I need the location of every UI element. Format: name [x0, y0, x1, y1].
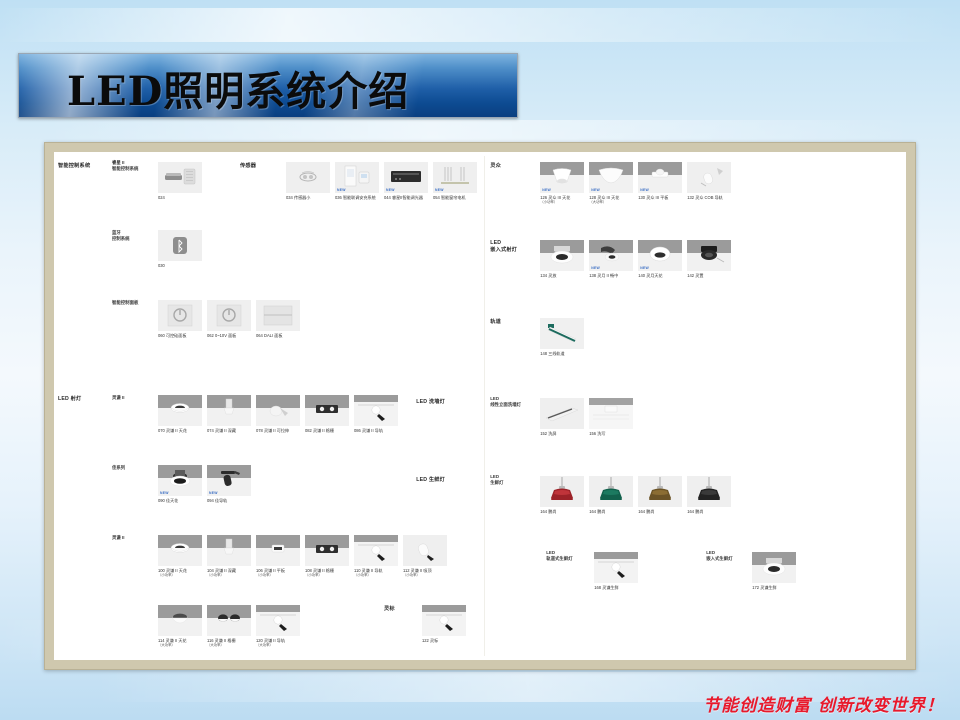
product-name: 灵谦 II 格栅	[313, 428, 334, 433]
catalog-subgroup-title: LED轨道式生鲜灯	[546, 550, 572, 562]
new-badge: NEW	[435, 188, 444, 192]
catalog-group-title: LED 射灯	[58, 395, 81, 402]
product-code: 110	[354, 568, 361, 573]
catalog-item[interactable]: NEW054 智能窗帘电机	[433, 162, 477, 200]
product-code: 070	[158, 428, 165, 433]
catalog-item[interactable]: NEW094 佳导轨	[207, 465, 251, 503]
product-thumbnail	[158, 230, 202, 261]
product-caption: 074 灵谦 II 深藏	[207, 428, 251, 433]
catalog-item[interactable]: 148 三线轨道	[540, 318, 584, 356]
catalog-item[interactable]: 106 灵谦 II 平板（小功率）	[256, 535, 300, 578]
product-thumbnail	[305, 535, 349, 566]
new-badge: NEW	[591, 188, 600, 192]
product-caption: 060 可控硅面板	[158, 333, 202, 338]
product-code: 140	[638, 273, 645, 278]
product-name: 灵谦 II 可拉伸	[264, 428, 289, 433]
product-code: 060	[158, 333, 165, 338]
product-thumbnail	[207, 535, 251, 566]
slogan: 节能创造财富 创新改变世界！	[703, 691, 944, 716]
product-thumbnail: NEW	[638, 162, 682, 193]
product-sub: （大功率）	[256, 643, 300, 648]
product-name: 灵谦 II 天花	[166, 568, 187, 573]
product-code: 024	[158, 195, 165, 200]
product-code: 054	[433, 195, 440, 200]
product-caption: 110 灵谦 II 导轨（小功率）	[354, 568, 398, 578]
product-code: 036	[335, 195, 342, 200]
catalog-item-row: 114 灵谦 II 天花（大功率）116 灵谦 II 格栅（大功率）120 灵谦…	[158, 605, 300, 648]
product-name: 可控硅面板	[166, 333, 186, 338]
catalog-item[interactable]: NEW128 灵众 III 天花（大功率）	[589, 162, 633, 205]
new-badge: NEW	[640, 188, 649, 192]
product-caption: 172 灵谦生鲜	[752, 585, 796, 590]
product-code: 082	[305, 428, 312, 433]
catalog-item[interactable]: 112 灵谦 II 吸顶（小功率）	[403, 535, 447, 578]
catalog-subgroup-title: LED线性立面洗墙灯	[490, 396, 521, 408]
catalog-subgroup-title: 灵谦 II	[112, 535, 124, 541]
product-thumbnail	[207, 300, 251, 331]
product-code: 132	[687, 195, 694, 200]
product-caption: 130 灵众 III 平板	[638, 195, 682, 200]
catalog-item-row: 100 灵谦 II 天花（小功率）104 灵谦 II 深藏（小功率）106 灵谦…	[158, 535, 447, 578]
catalog-item[interactable]: 110 灵谦 II 导轨（小功率）	[354, 535, 398, 578]
product-name: 灵月 II 畅中	[597, 273, 618, 278]
product-name: 灵标	[430, 638, 438, 643]
catalog-group-title: 灵众	[490, 162, 501, 169]
product-code: 114	[158, 638, 165, 643]
product-caption: 122 灵标	[422, 638, 466, 643]
product-name: 灵谦 II 导轨	[264, 638, 285, 643]
product-code: 130	[638, 195, 645, 200]
product-name: 灵月天花	[646, 273, 662, 278]
catalog-group-title: LED 洗墙灯	[416, 398, 445, 405]
catalog-item-row: 172 灵谦生鲜	[752, 552, 796, 590]
product-name: 灵众 III 天花	[597, 195, 619, 200]
product-name: 鹏尚	[695, 509, 703, 514]
catalog-subgroup-title: 佳系列	[112, 465, 125, 471]
product-thumbnail	[589, 476, 633, 507]
sky-streak	[0, 8, 960, 42]
catalog-item[interactable]: 122 灵标	[422, 605, 466, 643]
new-badge: NEW	[337, 188, 346, 192]
product-name: 灵谦 II 平板	[264, 568, 285, 573]
catalog-item[interactable]: 064 DALI 面板	[256, 300, 300, 338]
product-name: 灵谦 II 天花	[166, 638, 187, 643]
product-caption: 164 鹏尚	[589, 509, 633, 514]
catalog-item-row: 164 鹏尚164 鹏尚164 鹏尚164 鹏尚	[540, 476, 731, 514]
product-name: 灵放	[548, 273, 556, 278]
catalog-item-row: 148 三线轨道	[540, 318, 584, 356]
product-caption: 036 智能联调安充系统	[335, 195, 379, 200]
product-name: 灵谦 II 导轨	[362, 568, 383, 573]
product-code: 126	[540, 195, 547, 200]
product-thumbnail	[687, 240, 731, 271]
product-caption: 104 灵谦 II 深藏（小功率）	[207, 568, 251, 578]
new-badge: NEW	[640, 266, 649, 270]
catalog-item[interactable]: 030	[158, 230, 202, 268]
product-caption: 142 灵置	[687, 273, 731, 278]
product-thumbnail	[540, 398, 584, 429]
product-thumbnail	[422, 605, 466, 636]
product-caption: 070 灵谦 II 天花	[158, 428, 202, 433]
product-code: 122	[422, 638, 429, 643]
catalog-item[interactable]: 164 鹏尚	[638, 476, 682, 514]
product-thumbnail: NEW	[158, 465, 202, 496]
catalog-item[interactable]: 168 灵谦生鲜	[594, 552, 638, 590]
product-thumbnail	[207, 395, 251, 426]
catalog-subgroup-title: 灵谦 II	[112, 395, 124, 401]
catalog-item[interactable]: 100 灵谦 II 天花（小功率）	[158, 535, 202, 578]
catalog-item-row: 030	[158, 230, 202, 268]
catalog-item[interactable]: 132 灵众 COB 导轨	[687, 162, 731, 205]
product-code: 128	[589, 195, 596, 200]
catalog-item[interactable]: NEW130 灵众 III 平板	[638, 162, 682, 205]
catalog-item[interactable]: 116 灵谦 II 格栅（大功率）	[207, 605, 251, 648]
product-caption: 106 灵谦 II 平板（小功率）	[256, 568, 300, 578]
product-thumbnail	[594, 552, 638, 583]
catalog-item-row: NEW090 佳天花NEW094 佳导轨	[158, 465, 251, 503]
catalog-item-row: 034 传感器小NEW036 智能联调安充系统NEW044 睿星II智能调光器N…	[286, 162, 477, 200]
product-caption: 024	[158, 195, 202, 200]
product-thumbnail	[589, 398, 633, 429]
product-thumbnail	[158, 395, 202, 426]
product-name: 灵谦生鲜	[760, 585, 776, 590]
product-name: 灵置	[695, 273, 703, 278]
product-name: 灵谦 II 格栅	[313, 568, 334, 573]
catalog-right-column: 灵众NEW126 灵众 III 天花（小功率）NEW128 灵众 III 天花（…	[484, 152, 906, 660]
new-badge: NEW	[386, 188, 395, 192]
product-name: 洗屏	[548, 431, 556, 436]
catalog-item[interactable]: 142 灵置	[687, 240, 731, 278]
product-caption: 086 灵谦 II 导轨	[354, 428, 398, 433]
catalog-sheet: 智能控制系统睿星 II智能控制系统024蓝牙控制系统030智能控制面板060 可…	[54, 152, 906, 660]
product-name: 鹏尚	[646, 509, 654, 514]
product-thumbnail: NEW	[589, 162, 633, 193]
product-code: 062	[207, 333, 214, 338]
product-thumbnail	[286, 162, 330, 193]
catalog-item[interactable]: 082 灵谦 II 格栅	[305, 395, 349, 433]
product-name: 传感器小	[294, 195, 310, 200]
catalog-item[interactable]: 086 灵谦 II 导轨	[354, 395, 398, 433]
catalog-group-title: 智能控制系统	[58, 162, 90, 169]
product-caption: 164 鹏尚	[540, 509, 584, 514]
product-code: 120	[256, 638, 263, 643]
product-sub: （大功率）	[207, 643, 251, 648]
catalog-item[interactable]: 120 灵谦 II 导轨（大功率）	[256, 605, 300, 648]
product-code: 164	[638, 509, 645, 514]
product-thumbnail: NEW	[433, 162, 477, 193]
product-name: 鹏尚	[597, 509, 605, 514]
product-thumbnail	[305, 395, 349, 426]
product-name: 鹏尚	[548, 509, 556, 514]
product-caption: 034 传感器小	[286, 195, 330, 200]
catalog-item[interactable]: 070 灵谦 II 天花	[158, 395, 202, 433]
catalog-item[interactable]: 034 传感器小	[286, 162, 330, 200]
product-caption: 082 灵谦 II 格栅	[305, 428, 349, 433]
product-thumbnail	[540, 476, 584, 507]
product-caption: 120 灵谦 II 导轨（大功率）	[256, 638, 300, 648]
product-name: 灵谦 II 深藏	[215, 568, 236, 573]
catalog-item-row: 070 灵谦 II 天花074 灵谦 II 深藏078 灵谦 II 可拉伸082…	[158, 395, 398, 433]
product-thumbnail	[158, 300, 202, 331]
product-sub: （小功率）	[540, 200, 584, 205]
catalog-item[interactable]: 024	[158, 162, 202, 200]
product-code: 138	[589, 273, 596, 278]
product-caption: 094 佳导轨	[207, 498, 251, 503]
product-caption: 114 灵谦 II 天花（大功率）	[158, 638, 202, 648]
product-code: 168	[594, 585, 601, 590]
product-name: DALI 面板	[264, 333, 282, 338]
product-code: 086	[354, 428, 361, 433]
product-thumbnail: NEW	[540, 162, 584, 193]
product-thumbnail	[354, 395, 398, 426]
product-thumbnail: NEW	[207, 465, 251, 496]
catalog-left-column: 智能控制系统睿星 II智能控制系统024蓝牙控制系统030智能控制面板060 可…	[54, 152, 484, 660]
product-caption: 064 DALI 面板	[256, 333, 300, 338]
product-caption: 128 灵众 III 天花（大功率）	[589, 195, 633, 205]
catalog-item[interactable]: 156 洗写	[589, 398, 633, 436]
catalog-item[interactable]: 134 灵放	[540, 240, 584, 278]
product-thumbnail	[158, 535, 202, 566]
product-name: 三线轨道	[548, 351, 564, 356]
product-code: 064	[256, 333, 263, 338]
product-name: 灵众 COB 导轨	[695, 195, 723, 200]
product-sub: （大功率）	[589, 200, 633, 205]
product-sub: （小功率）	[158, 573, 202, 578]
catalog-group-title: 灵标	[384, 605, 395, 612]
product-code: 106	[256, 568, 263, 573]
product-code: 104	[207, 568, 214, 573]
product-code: 152	[540, 431, 547, 436]
catalog-item[interactable]: 164 鹏尚	[540, 476, 584, 514]
product-thumbnail	[256, 605, 300, 636]
catalog-item-row: 024	[158, 162, 202, 200]
product-name: 灵谦 II 格栅	[215, 638, 236, 643]
catalog-item-row: 060 可控硅面板062 0~10V 面板064 DALI 面板	[158, 300, 300, 338]
catalog-group-title: 传感器	[240, 162, 256, 169]
new-badge: NEW	[209, 491, 218, 495]
product-code: 164	[589, 509, 596, 514]
product-code: 078	[256, 428, 263, 433]
catalog-item-row: 122 灵标	[422, 605, 466, 643]
product-thumbnail: NEW	[335, 162, 379, 193]
catalog-sheet-frame: 智能控制系统睿星 II智能控制系统024蓝牙控制系统030智能控制面板060 可…	[44, 142, 916, 670]
catalog-subgroup-title: LED嵌入式生鲜灯	[706, 550, 732, 562]
product-caption: 156 洗写	[589, 431, 633, 436]
product-caption: 126 灵众 III 天花（小功率）	[540, 195, 584, 205]
product-code: 094	[207, 498, 214, 503]
catalog-subgroup-title: LED生鲜灯	[490, 474, 503, 486]
product-code: 156	[589, 431, 596, 436]
product-code: 148	[540, 351, 547, 356]
product-name: 灵谦 II 天花	[166, 428, 187, 433]
product-sub: （小功率）	[305, 573, 349, 578]
product-code: 034	[286, 195, 293, 200]
catalog-item[interactable]: NEW140 灵月天花	[638, 240, 682, 278]
product-code: 030	[158, 263, 165, 268]
catalog-item[interactable]: 074 灵谦 II 深藏	[207, 395, 251, 433]
product-name: 智能联调安充系统	[343, 195, 376, 200]
product-name: 灵谦生鲜	[602, 585, 618, 590]
product-thumbnail	[752, 552, 796, 583]
product-name: 灵众 III 平板	[646, 195, 668, 200]
product-thumbnail: NEW	[384, 162, 428, 193]
product-sub: （小功率）	[354, 573, 398, 578]
product-name: 灵众 III 天花	[548, 195, 570, 200]
catalog-item[interactable]: 114 灵谦 II 天花（大功率）	[158, 605, 202, 648]
product-thumbnail	[207, 605, 251, 636]
catalog-subgroup-title: 睿星 II智能控制系统	[112, 160, 138, 172]
catalog-item[interactable]: NEW044 睿星II智能调光器	[384, 162, 428, 200]
product-name: 睿星II智能调光器	[392, 195, 423, 200]
product-thumbnail	[354, 535, 398, 566]
catalog-item[interactable]: NEW090 佳天花	[158, 465, 202, 503]
catalog-item-row: 152 洗屏156 洗写	[540, 398, 633, 436]
product-name: 佳天花	[166, 498, 178, 503]
product-thumbnail	[256, 300, 300, 331]
product-name: 0~10V 面板	[215, 333, 236, 338]
product-thumbnail: NEW	[638, 240, 682, 271]
product-caption: 164 鹏尚	[687, 509, 731, 514]
catalog-item[interactable]: NEW126 灵众 III 天花（小功率）	[540, 162, 584, 205]
product-thumbnail	[256, 535, 300, 566]
product-thumbnail	[687, 476, 731, 507]
catalog-item[interactable]: 164 鹏尚	[589, 476, 633, 514]
product-thumbnail	[638, 476, 682, 507]
catalog-item[interactable]: 060 可控硅面板	[158, 300, 202, 338]
product-caption: 134 灵放	[540, 273, 584, 278]
product-caption: 062 0~10V 面板	[207, 333, 251, 338]
product-sub: （小功率）	[403, 573, 447, 578]
catalog-item-row: NEW126 灵众 III 天花（小功率）NEW128 灵众 III 天花（大功…	[540, 162, 731, 205]
product-caption: 168 灵谦生鲜	[594, 585, 638, 590]
new-badge: NEW	[160, 491, 169, 495]
product-caption: 132 灵众 COB 导轨	[687, 195, 731, 200]
catalog-subgroup-title: 智能控制面板	[112, 300, 138, 306]
product-thumbnail	[403, 535, 447, 566]
product-thumbnail	[687, 162, 731, 193]
catalog-item[interactable]: 078 灵谦 II 可拉伸	[256, 395, 300, 433]
product-code: 164	[540, 509, 547, 514]
catalog-item[interactable]: NEW138 灵月 II 畅中	[589, 240, 633, 278]
product-code: 164	[687, 509, 694, 514]
product-code: 134	[540, 273, 547, 278]
product-name: 洗写	[597, 431, 605, 436]
product-code: 142	[687, 273, 694, 278]
product-code: 090	[158, 498, 165, 503]
catalog-item[interactable]: 152 洗屏	[540, 398, 584, 436]
catalog-group-title: 轨道	[490, 318, 501, 325]
product-caption: 112 灵谦 II 吸顶（小功率）	[403, 568, 447, 578]
product-code: 044	[384, 195, 391, 200]
new-badge: NEW	[542, 188, 551, 192]
catalog-item[interactable]: 164 鹏尚	[687, 476, 731, 514]
catalog-item[interactable]: NEW036 智能联调安充系统	[335, 162, 379, 200]
catalog-subgroup-title: 蓝牙控制系统	[112, 230, 130, 242]
product-sub: （小功率）	[256, 573, 300, 578]
product-caption: 116 灵谦 II 格栅（大功率）	[207, 638, 251, 648]
product-caption: 152 洗屏	[540, 431, 584, 436]
product-thumbnail	[158, 162, 202, 193]
product-code: 100	[158, 568, 165, 573]
product-code: 108	[305, 568, 312, 573]
product-caption: 100 灵谦 II 天花（小功率）	[158, 568, 202, 578]
product-name: 灵谦 II 深藏	[215, 428, 236, 433]
product-thumbnail	[256, 395, 300, 426]
product-sub: （大功率）	[158, 643, 202, 648]
product-caption: 164 鹏尚	[638, 509, 682, 514]
product-thumbnail	[540, 318, 584, 349]
product-name: 灵谦 II 导轨	[362, 428, 383, 433]
product-thumbnail	[158, 605, 202, 636]
product-caption: 108 灵谦 II 格栅（小功率）	[305, 568, 349, 578]
product-caption: 148 三线轨道	[540, 351, 584, 356]
product-code: 112	[403, 568, 410, 573]
product-thumbnail	[540, 240, 584, 271]
catalog-item[interactable]: 108 灵谦 II 格栅（小功率）	[305, 535, 349, 578]
product-caption: 138 灵月 II 畅中	[589, 273, 633, 278]
product-name: 灵谦 II 吸顶	[411, 568, 432, 573]
product-sub: （小功率）	[207, 573, 251, 578]
title-banner: LED照明系统介绍	[18, 53, 518, 118]
product-code: 116	[207, 638, 214, 643]
product-code: 074	[207, 428, 214, 433]
catalog-item-row: 134 灵放NEW138 灵月 II 畅中NEW140 灵月天花142 灵置	[540, 240, 731, 278]
product-caption: 054 智能窗帘电机	[433, 195, 477, 200]
catalog-item[interactable]: 104 灵谦 II 深藏（小功率）	[207, 535, 251, 578]
product-thumbnail: NEW	[589, 240, 633, 271]
product-caption: 044 睿星II智能调光器	[384, 195, 428, 200]
product-caption: 078 灵谦 II 可拉伸	[256, 428, 300, 433]
product-caption: 140 灵月天花	[638, 273, 682, 278]
new-badge: NEW	[591, 266, 600, 270]
product-caption: 090 佳天花	[158, 498, 202, 503]
product-code: 172	[752, 585, 759, 590]
catalog-group-title: LED 生鲜灯	[416, 476, 445, 483]
page-title: LED照明系统介绍	[67, 59, 409, 117]
product-caption: 030	[158, 263, 202, 268]
catalog-item-row: 168 灵谦生鲜	[594, 552, 638, 590]
catalog-item[interactable]: 062 0~10V 面板	[207, 300, 251, 338]
product-name: 佳导轨	[215, 498, 227, 503]
catalog-item[interactable]: 172 灵谦生鲜	[752, 552, 796, 590]
catalog-group-title: LED嵌入式射灯	[490, 240, 517, 253]
product-name: 智能窗帘电机	[441, 195, 466, 200]
